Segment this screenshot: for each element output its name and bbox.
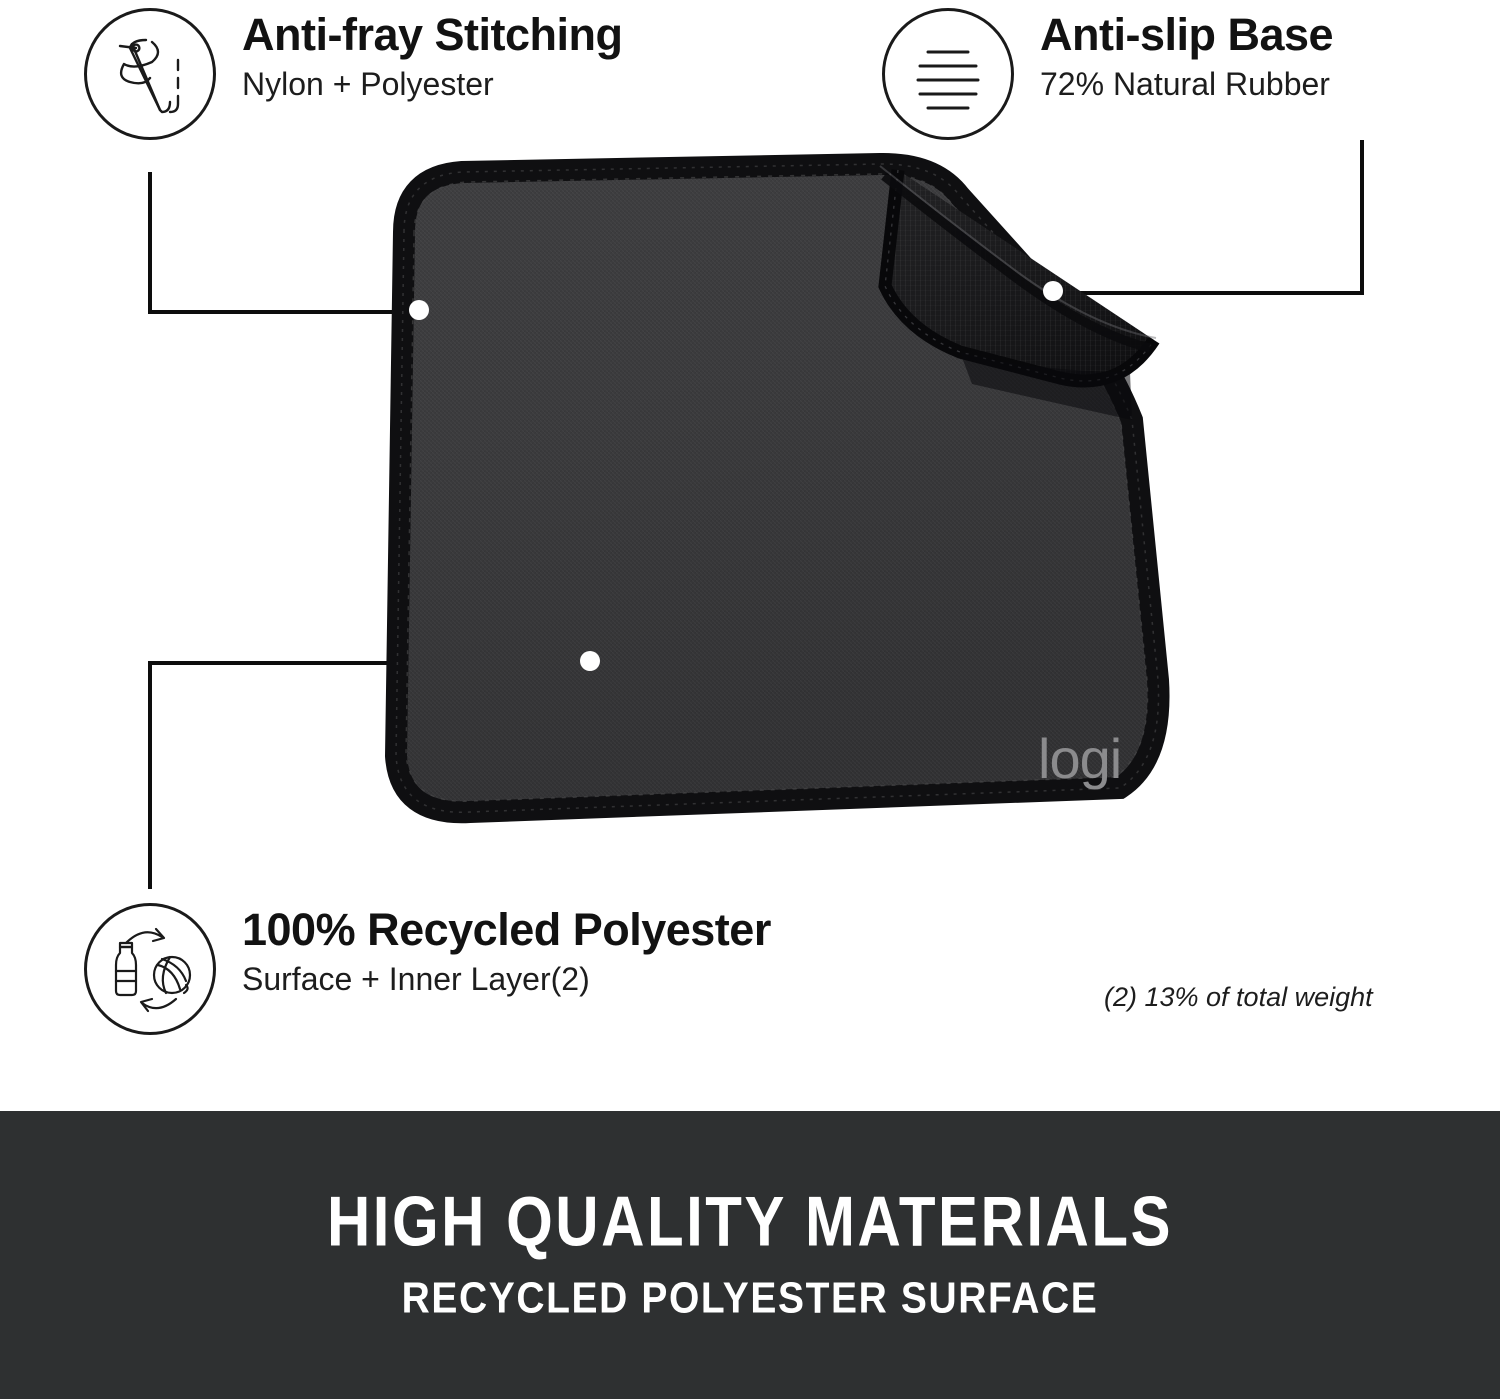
pad-body: [396, 164, 1159, 812]
marker-dot-antislip: [1043, 281, 1063, 301]
marker-dot-stitching: [409, 300, 429, 320]
infographic-canvas: logi Anti-fray Stitching Nylon + Polyest: [0, 0, 1500, 1399]
bottom-banner: HIGH QUALITY MATERIALS RECYCLED POLYESTE…: [0, 1111, 1500, 1399]
logi-logo: logi: [1038, 727, 1121, 790]
mouse-pad-illustration: logi: [0, 0, 1500, 1120]
banner-title: HIGH QUALITY MATERIALS: [327, 1184, 1173, 1258]
banner-subtitle: RECYCLED POLYESTER SURFACE: [402, 1277, 1099, 1323]
svg-text:logi: logi: [1038, 727, 1121, 790]
marker-dot-recycled: [580, 651, 600, 671]
